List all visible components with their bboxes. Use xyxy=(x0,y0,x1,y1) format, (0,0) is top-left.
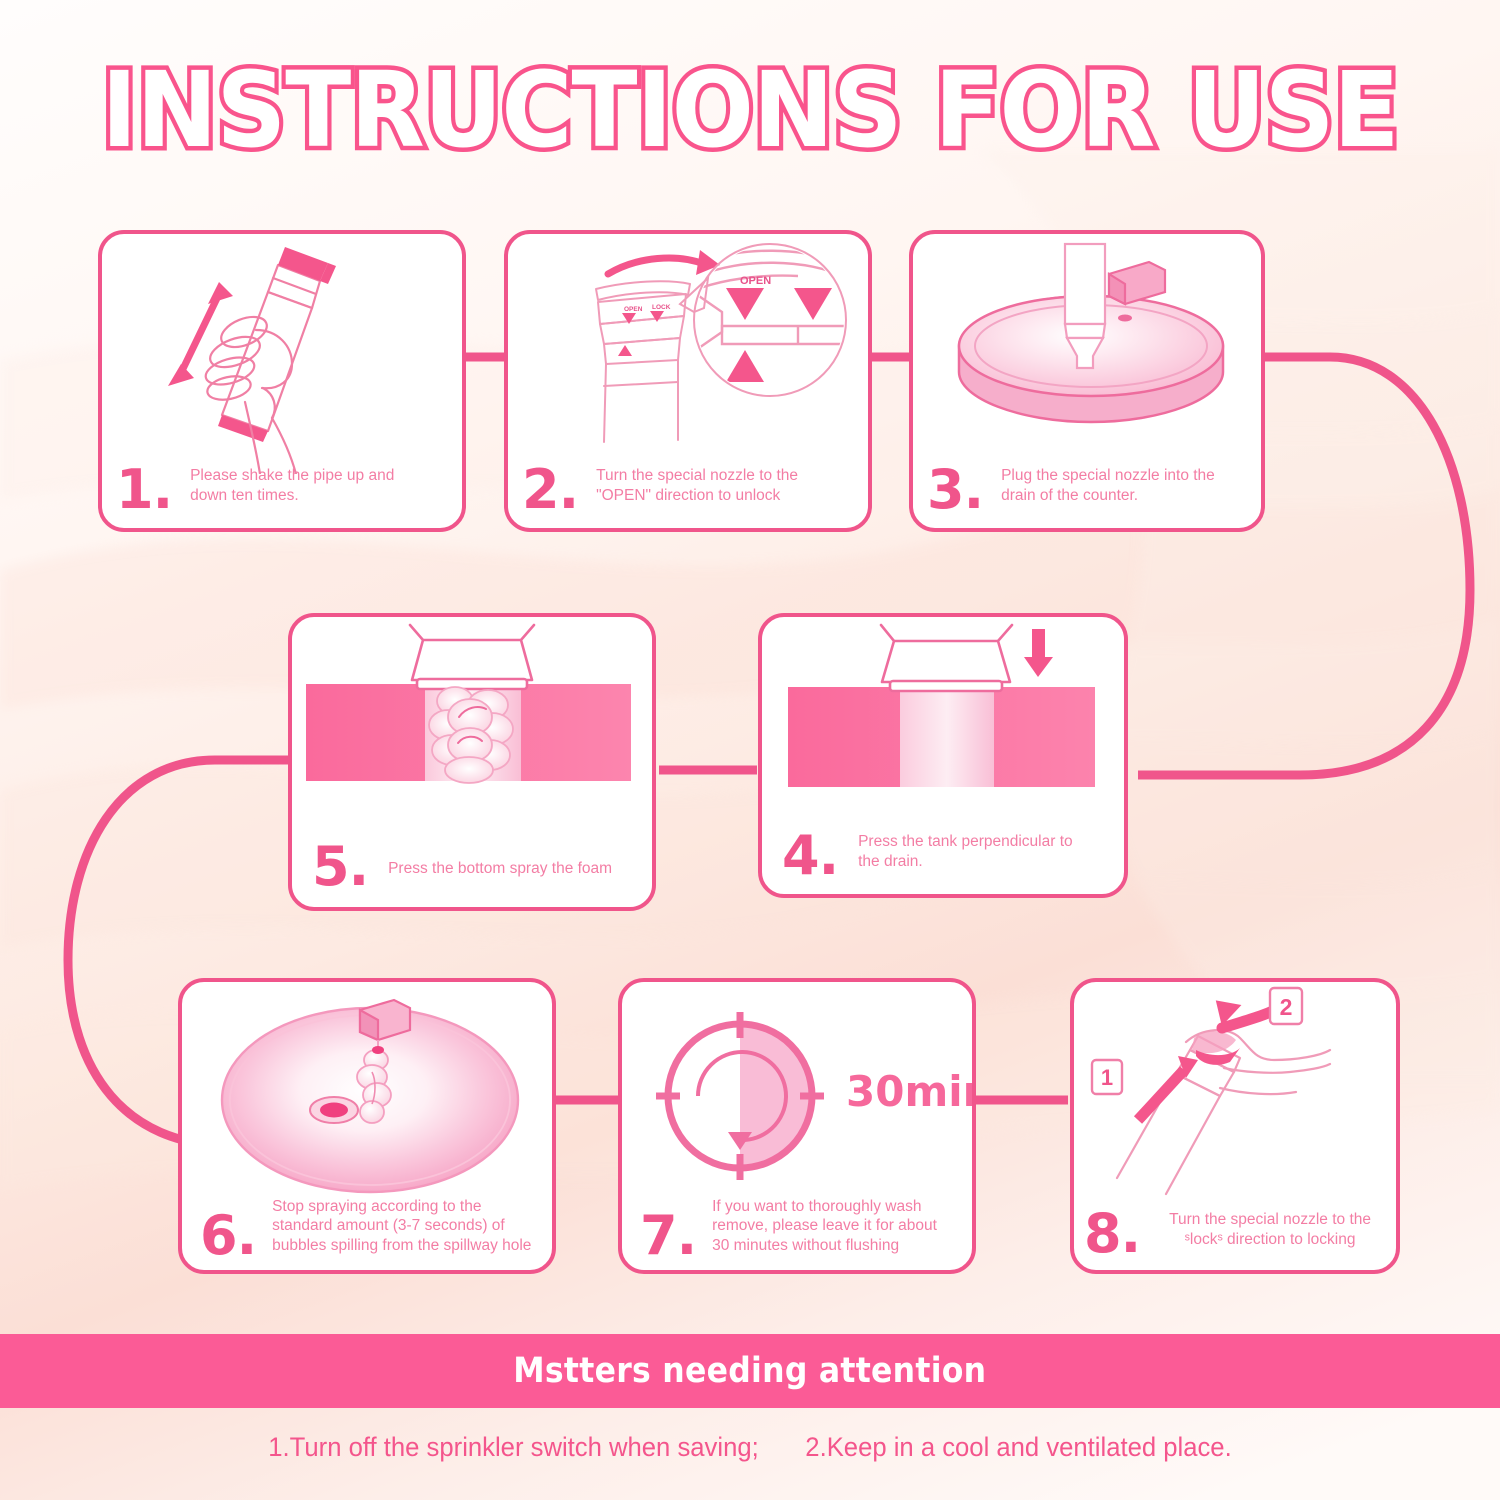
step-card-8[interactable]: 1 2 8. Turn the special nozzle to the ˢl… xyxy=(1070,978,1400,1274)
step-caption-3: 3. Plug the special nozzle into the drai… xyxy=(913,434,1261,528)
step-text-3: Plug the special nozzle into the drain o… xyxy=(1001,466,1236,506)
step-number-7: 7. xyxy=(640,1214,696,1258)
step-caption-4: 4. Press the tank perpendicular to the d… xyxy=(762,801,1124,894)
step-number-5: 5. xyxy=(312,845,368,889)
step-number-1: 1. xyxy=(116,468,172,512)
step-card-2[interactable]: OPEN LOCK xyxy=(504,230,872,532)
step-text-4: Press the tank perpendicular to the drai… xyxy=(858,832,1098,872)
hand-turning-nozzle-lock-icon: 1 2 xyxy=(1074,982,1400,1197)
attention-banner: Mstters needing attention xyxy=(0,1334,1500,1408)
step-text-7: If you want to thoroughly wash remove, p… xyxy=(712,1197,958,1256)
step-caption-5: 5. Press the bottom spray the foam xyxy=(292,806,652,907)
timer-duration-label: 30min xyxy=(846,1067,976,1116)
step-text-5: Press the bottom spray the foam xyxy=(388,859,612,879)
step-caption-2: 2. Turn the special nozzle to the "OPEN"… xyxy=(508,434,868,528)
page-title-text: INSTRUCTIONS FOR USE xyxy=(53,58,1448,162)
step-number-8: 8. xyxy=(1084,1212,1140,1256)
step-number-4: 4. xyxy=(782,834,838,878)
step-card-4[interactable]: 4. Press the tank perpendicular to the d… xyxy=(758,613,1128,898)
step-text-6: Stop spraying according to the standard … xyxy=(272,1197,538,1256)
infographic-page: INSTRUCTIONS FOR USE xyxy=(0,0,1500,1500)
step-card-5[interactable]: 5. Press the bottom spray the foam xyxy=(288,613,656,911)
step-text-2: Turn the special nozzle to the "OPEN" di… xyxy=(596,466,846,506)
step-card-3[interactable]: 3. Plug the special nozzle into the drai… xyxy=(909,230,1265,532)
step-caption-6: 6. Stop spraying according to the standa… xyxy=(182,1182,552,1270)
attention-note-2: 2.Keep in a cool and ventilated place. xyxy=(805,1432,1231,1462)
step-card-1[interactable]: 1. Please shake the pipe up and down ten… xyxy=(98,230,466,532)
step-number-3: 3. xyxy=(927,468,983,512)
step-number-2: 2. xyxy=(522,468,578,512)
attention-notes: 1.Turn off the sprinkler switch when sav… xyxy=(38,1432,1463,1463)
press-tank-down-icon xyxy=(762,617,1128,825)
sink-overflow-foam-icon xyxy=(182,982,556,1207)
step-caption-7: 7. If you want to thoroughly wash remove… xyxy=(622,1180,972,1270)
attention-note-1: 1.Turn off the sprinkler switch when sav… xyxy=(268,1432,758,1462)
cap-label-open: OPEN xyxy=(624,306,643,313)
step-card-7[interactable]: 30min 7. If you want to thoroughly wash … xyxy=(618,978,976,1274)
marker-1-label: 1 xyxy=(1101,1065,1113,1090)
step-number-6: 6. xyxy=(200,1214,256,1258)
page-title: INSTRUCTIONS FOR USE xyxy=(0,0,1500,190)
step-text-8: Turn the special nozzle to the ˢlockˢ di… xyxy=(1154,1210,1386,1250)
step-card-6[interactable]: 6. Stop spraying according to the standa… xyxy=(178,978,556,1274)
step-text-1: Please shake the pipe up and down ten ti… xyxy=(190,466,420,506)
marker-2-label: 2 xyxy=(1280,994,1293,1020)
step-caption-1: 1. Please shake the pipe up and down ten… xyxy=(102,434,462,528)
foam-spray-pipe-icon xyxy=(292,617,656,832)
magnified-label-open: OPEN xyxy=(740,275,771,287)
attention-banner-title: Mstters needing attention xyxy=(513,1351,986,1391)
cap-label-lock: LOCK xyxy=(652,304,671,311)
step-caption-8: 8. Turn the special nozzle to the ˢlockˢ… xyxy=(1074,1180,1396,1270)
